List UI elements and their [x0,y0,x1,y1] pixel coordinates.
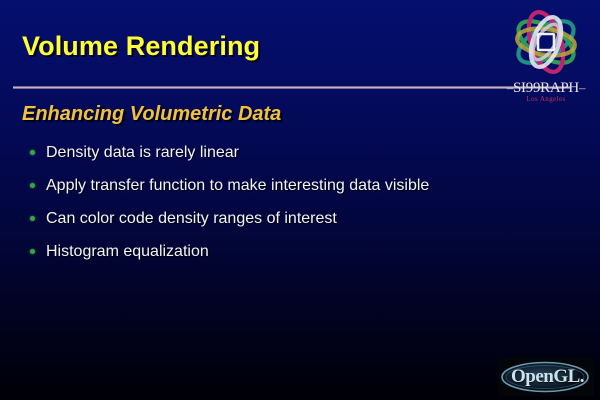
siggraph-logo: –SI99RAPH– Los Angeles [498,6,594,104]
bullet-dot-icon [30,249,35,254]
bullet-dot-icon [30,150,35,155]
wordmark-text: SI99RAPH [513,80,579,96]
bullet-dot-icon [30,183,35,188]
opengl-logo: OpenGL. [498,358,594,396]
title-divider [13,86,570,89]
bullet-list: Density data is rarely linear Apply tran… [27,136,567,268]
presentation-slide: Volume Rendering Enhancing Volumetric Da… [0,0,600,400]
list-item: Density data is rarely linear [27,136,567,169]
siggraph-city-label: Los Angeles [498,95,594,103]
opengl-wordmark: OpenGL. [511,366,584,388]
slide-subtitle: Enhancing Volumetric Data [22,103,281,126]
bullet-item-label: Density data is rarely linear [46,136,239,169]
list-item: Can color code density ranges of interes… [27,202,567,235]
bullet-item-label: Apply transfer function to make interest… [46,169,429,202]
slide-title: Volume Rendering [22,31,260,62]
bullet-dot-icon [30,216,35,221]
bullet-item-label: Histogram equalization [46,235,209,268]
siggraph-rings-icon [506,6,586,78]
list-item: Histogram equalization [27,235,567,268]
list-item: Apply transfer function to make interest… [27,169,567,202]
wordmark-dash-right: – [579,80,585,95]
bullet-item-label: Can color code density ranges of interes… [46,202,337,235]
